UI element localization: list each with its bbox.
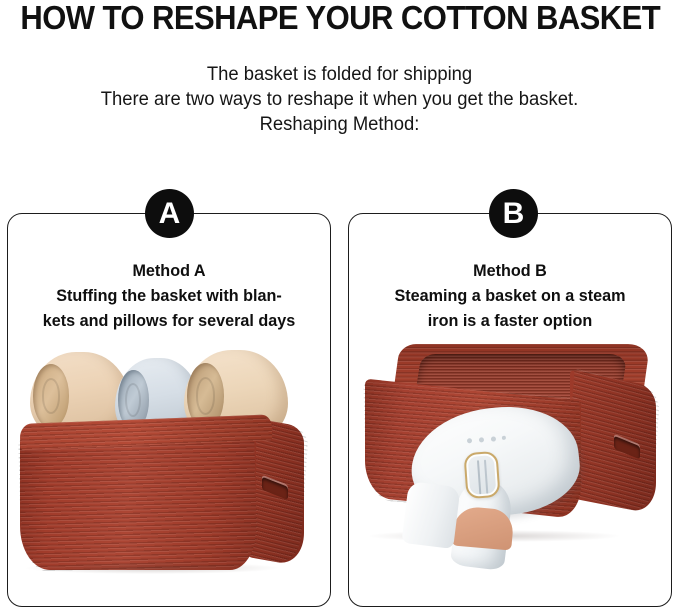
rope-texture [18,431,258,574]
basket-front-panel [20,434,256,570]
method-badge-b: B [489,189,538,238]
method-badge-a: A [145,189,194,238]
infographic-page: HOW TO RESHAPE YOUR COTTON BASKET The ba… [0,0,679,611]
subtitle-line-1: The basket is folded for shipping [10,62,669,87]
basket-drop-shadow [26,562,278,574]
subtitle-block: The basket is folded for shipping There … [0,62,679,137]
method-panel-b: Method B Steaming a basket on a steam ir… [348,213,672,607]
method-a-illustration [8,214,330,606]
method-panel-a: Method A Stuffing the basket with blan- … [7,213,331,607]
page-title: HOW TO RESHAPE YOUR COTTON BASKET [20,0,658,37]
fingers [451,505,514,550]
cotton-rope-basket-filled [20,412,302,574]
method-b-illustration [349,214,671,606]
steamer-handle [401,481,460,549]
subtitle-line-3: Reshaping Method: [10,112,669,137]
subtitle-line-2: There are two ways to reshape it when yo… [10,87,669,112]
